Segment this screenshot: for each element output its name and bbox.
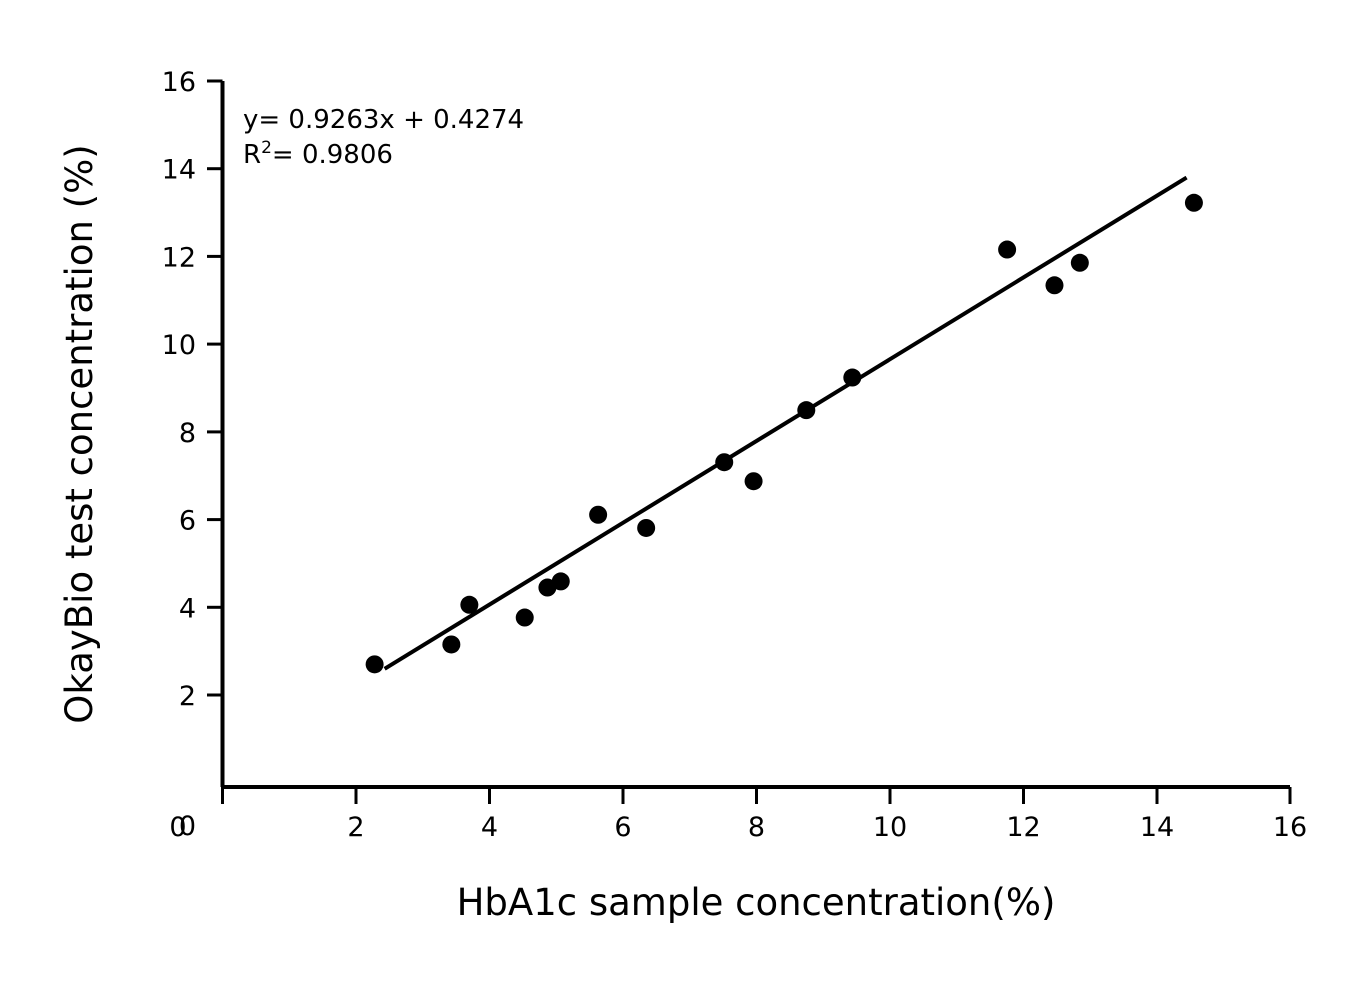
- data-point: [366, 655, 384, 673]
- y-axis-ticks: [207, 81, 223, 695]
- data-point: [998, 241, 1016, 259]
- data-point: [516, 609, 534, 627]
- data-point: [1045, 276, 1063, 294]
- y-tick-label-2: 2: [179, 681, 196, 712]
- r-squared-value: = 0.9806: [272, 140, 393, 170]
- x-tick-label-10: 10: [873, 812, 907, 843]
- y-tick-label-10: 10: [162, 330, 196, 361]
- x-axis-tick-labels: 0 2 4 6 8 10 12 14 16: [169, 812, 1307, 843]
- data-point: [745, 472, 763, 490]
- data-point: [843, 369, 861, 387]
- regression-equation-text: y= 0.9263x + 0.4274: [243, 105, 524, 135]
- x-tick-label-2: 2: [347, 812, 364, 843]
- data-point: [1185, 194, 1203, 212]
- data-point: [797, 401, 815, 419]
- y-tick-label-6: 6: [179, 506, 196, 537]
- x-tick-label-6: 6: [614, 812, 631, 843]
- y-tick-label-4: 4: [179, 593, 196, 624]
- y-axis-tick-labels: 16 14 12 10 8 6 4 2 0: [162, 67, 196, 842]
- x-tick-label-8: 8: [748, 812, 765, 843]
- chart-canvas: 16 14 12 10 8 6 4 2 0 0 2 4 6: [0, 0, 1360, 992]
- r-squared-prefix: R: [243, 140, 261, 170]
- y-tick-label-8: 8: [179, 418, 196, 449]
- x-tick-label-16: 16: [1273, 812, 1307, 843]
- x-axis-title: HbA1c sample concentration(%): [457, 881, 1056, 924]
- x-tick-label-4: 4: [481, 812, 498, 843]
- r-squared-text: R2= 0.9806: [243, 138, 393, 170]
- data-point: [460, 596, 478, 614]
- x-axis-ticks: [223, 787, 1291, 804]
- x-tick-label-12: 12: [1006, 812, 1040, 843]
- data-point: [589, 506, 607, 524]
- y-tick-label-16: 16: [162, 67, 196, 98]
- data-point: [637, 519, 655, 537]
- x-tick-label-14: 14: [1140, 812, 1174, 843]
- data-point: [552, 572, 570, 590]
- y-tick-label-14: 14: [162, 155, 196, 186]
- trend-line: [385, 178, 1187, 669]
- y-axis-title: OkayBio test concentration (%): [58, 144, 101, 723]
- scatter-chart-figure: 16 14 12 10 8 6 4 2 0 0 2 4 6: [0, 0, 1360, 992]
- x-tick-label-0: 0: [169, 812, 186, 843]
- data-point: [442, 635, 460, 653]
- y-tick-label-12: 12: [162, 242, 196, 273]
- data-point: [1071, 254, 1089, 272]
- data-point: [715, 453, 733, 471]
- r-squared-superscript: 2: [261, 138, 272, 158]
